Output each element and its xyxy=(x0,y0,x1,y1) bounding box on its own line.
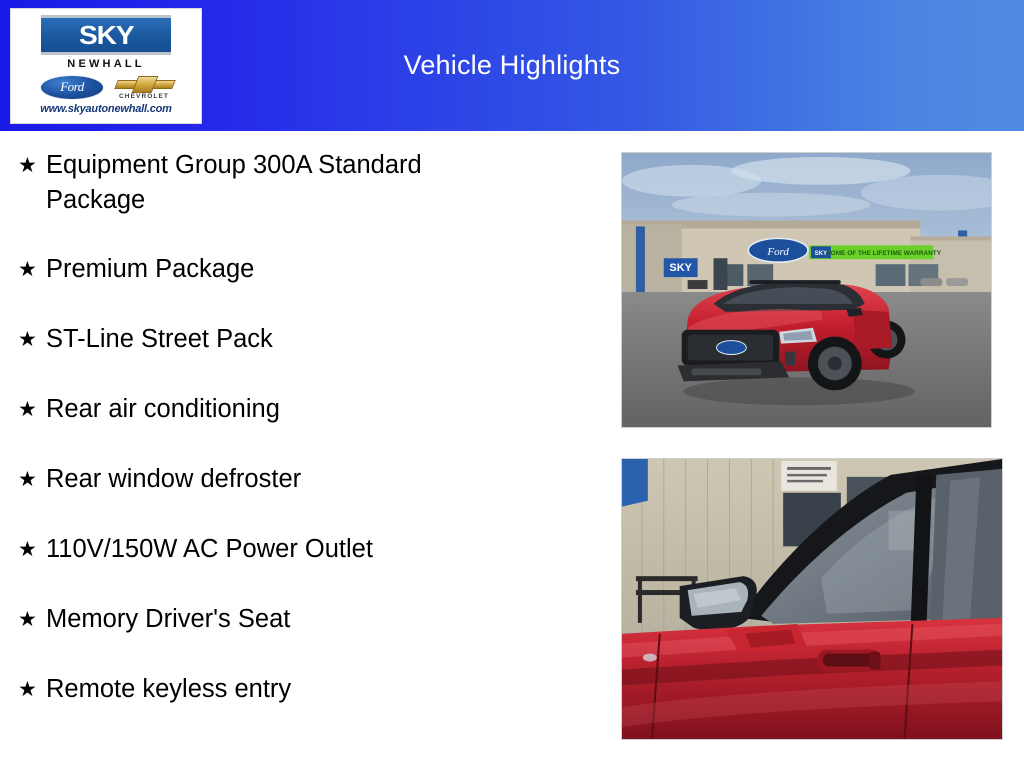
svg-text:Ford: Ford xyxy=(766,246,789,258)
star-icon: ★ xyxy=(14,672,46,708)
star-icon: ★ xyxy=(14,148,46,184)
vehicle-photo-door-closeup-art xyxy=(622,459,1002,739)
list-item: ★ ST-Line Street Pack xyxy=(14,322,594,358)
ford-logo-icon: Ford xyxy=(40,75,104,100)
vehicle-highlights-list: ★ Equipment Group 300A Standard Package … xyxy=(14,148,594,708)
list-item-label: ST-Line Street Pack xyxy=(46,322,501,357)
list-item-label: Premium Package xyxy=(46,252,501,287)
list-item: ★ Premium Package xyxy=(14,252,594,288)
brand-row: Ford CHEVROLET xyxy=(17,73,195,101)
star-icon: ★ xyxy=(14,602,46,638)
list-item-label: Rear window defroster xyxy=(46,462,501,497)
vehicle-photo-front-art: Ford SKY HOME OF THE LIFETIME WARRANTY S… xyxy=(622,153,991,427)
chevrolet-logo-label: CHEVROLET xyxy=(119,93,169,100)
list-item-label: 110V/150W AC Power Outlet xyxy=(46,532,501,567)
list-item: ★ Remote keyless entry xyxy=(14,672,594,708)
star-icon: ★ xyxy=(14,322,46,358)
dealer-logo[interactable]: SKY NEWHALL Ford CHEVROLET www.skyautone… xyxy=(10,8,202,124)
list-item-label: Remote keyless entry xyxy=(46,672,501,707)
star-icon: ★ xyxy=(14,252,46,288)
star-icon: ★ xyxy=(14,532,46,568)
slide: Vehicle Highlights SKY NEWHALL Ford CHEV… xyxy=(0,0,1024,768)
list-item: ★ Equipment Group 300A Standard Package xyxy=(14,148,594,218)
list-item-label: Memory Driver's Seat xyxy=(46,602,501,637)
ford-logo-label: Ford xyxy=(60,79,84,95)
sky-badge: SKY xyxy=(41,15,171,55)
vehicle-photo-front[interactable]: Ford SKY HOME OF THE LIFETIME WARRANTY S… xyxy=(621,152,992,428)
list-item: ★ Rear air conditioning xyxy=(14,392,594,428)
svg-text:SKY: SKY xyxy=(669,262,692,274)
dealer-logo-inner: SKY NEWHALL Ford CHEVROLET www.skyautone… xyxy=(11,9,201,123)
list-item-label: Equipment Group 300A Standard Package xyxy=(46,148,501,218)
star-icon: ★ xyxy=(14,462,46,498)
list-item: ★ Memory Driver's Seat xyxy=(14,602,594,638)
dealer-location-label: NEWHALL xyxy=(67,58,144,70)
list-item: ★ Rear window defroster xyxy=(14,462,594,498)
star-icon: ★ xyxy=(14,392,46,428)
vehicle-photo-door-closeup[interactable] xyxy=(621,458,1003,740)
dealer-website-label: www.skyautonewhall.com xyxy=(40,103,172,115)
list-item: ★ 110V/150W AC Power Outlet xyxy=(14,532,594,568)
chevrolet-logo-icon: CHEVROLET xyxy=(116,75,172,100)
sky-brand-label: SKY xyxy=(79,20,134,51)
list-item-label: Rear air conditioning xyxy=(46,392,501,427)
svg-text:HOME OF THE LIFETIME WARRANTY: HOME OF THE LIFETIME WARRANTY xyxy=(826,250,942,257)
chevrolet-bowtie-icon xyxy=(116,75,172,92)
